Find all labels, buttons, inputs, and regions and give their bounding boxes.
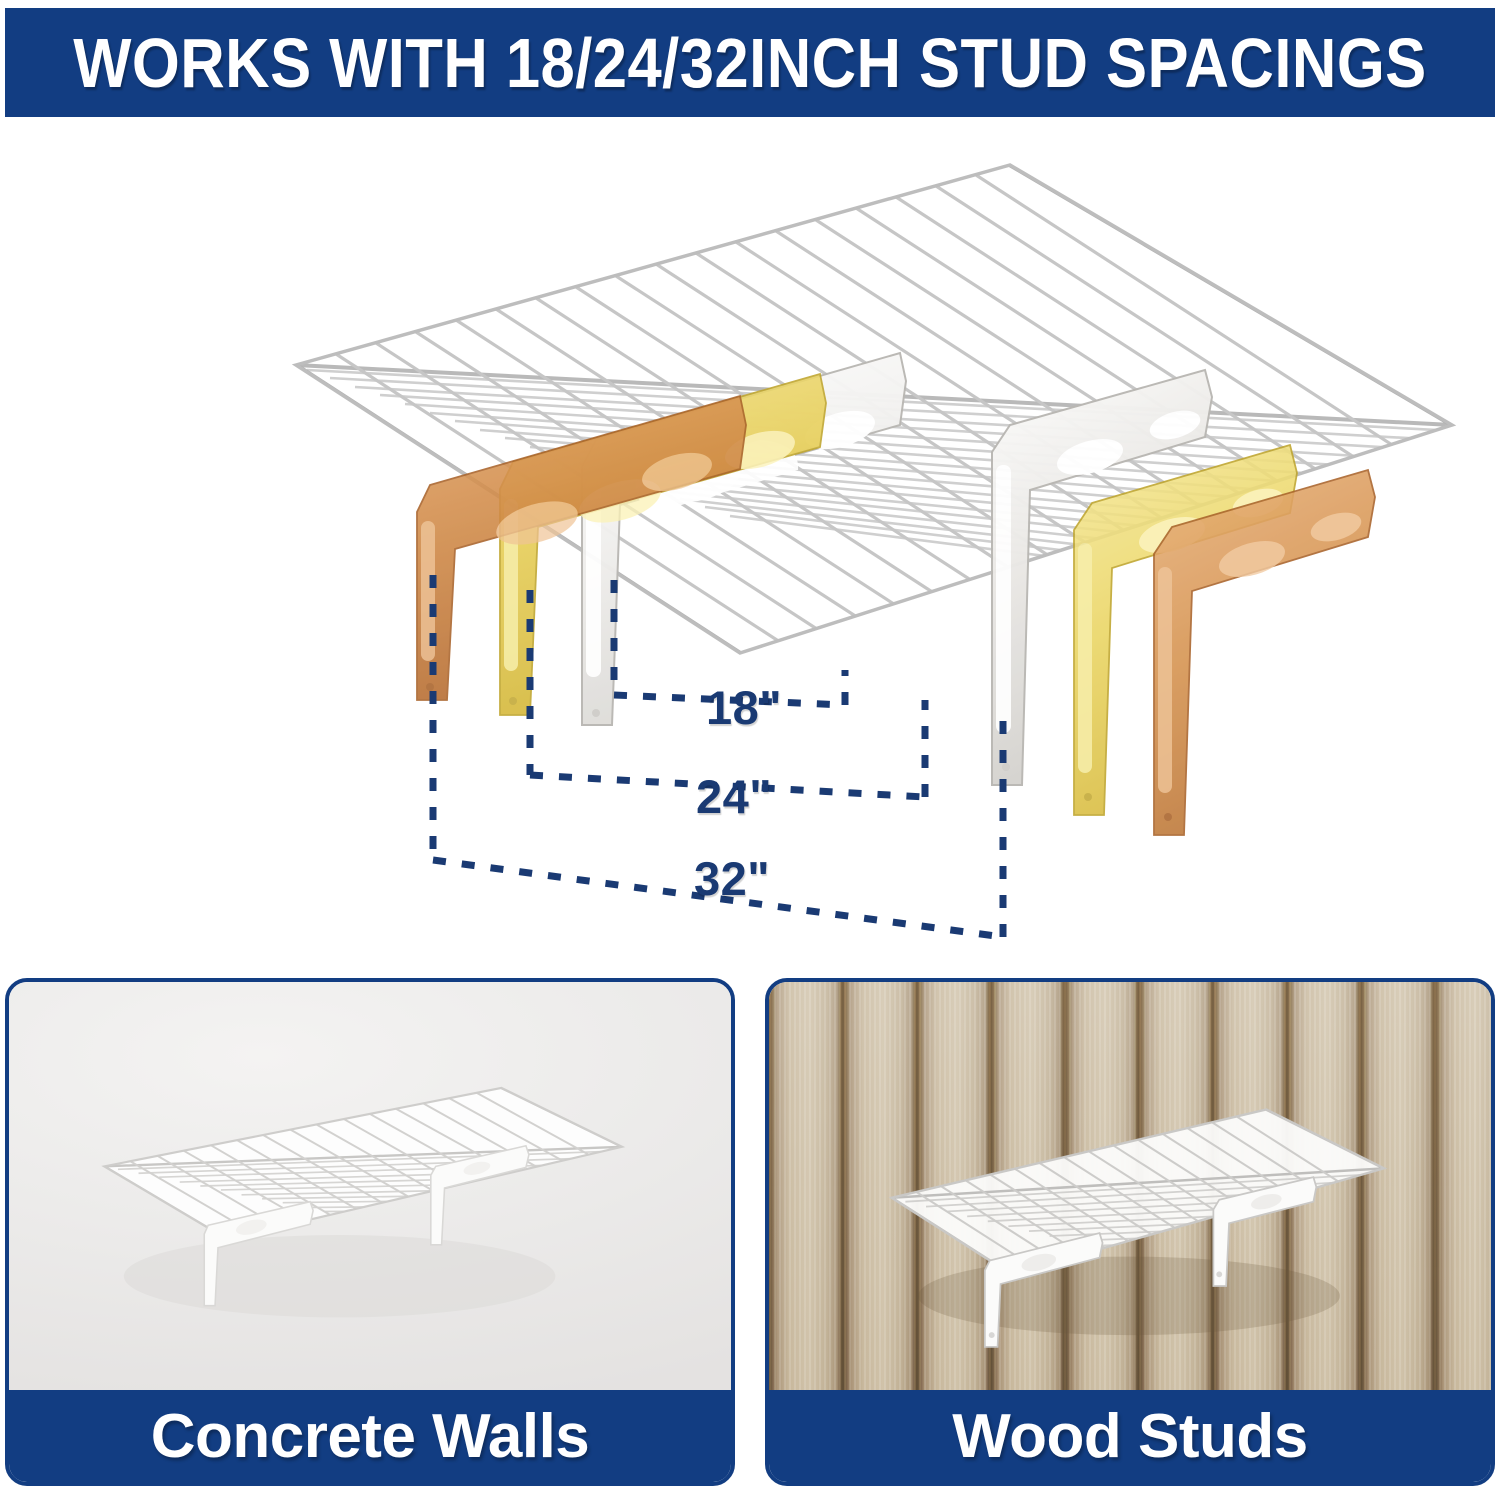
caption-concrete-walls-label: Concrete Walls xyxy=(151,1401,590,1472)
stud-spacing-diagram: 18" 24" 32" xyxy=(0,125,1500,970)
caption-concrete-walls: Concrete Walls xyxy=(9,1390,731,1482)
banner-title: WORKS WITH 18/24/32INCH STUD SPACINGS xyxy=(73,23,1426,103)
wood-shelf-image xyxy=(769,982,1491,1390)
wood-stud-scene xyxy=(769,982,1491,1390)
concrete-shelf-image xyxy=(9,982,731,1390)
panel-wood-studs: Wood Studs xyxy=(765,978,1495,1486)
bracket-orange-right xyxy=(1154,470,1375,835)
application-panels: Concrete Walls xyxy=(0,978,1500,1488)
dimension-label-18: 18" xyxy=(706,680,782,735)
shelf-on-concrete-svg xyxy=(9,982,731,1390)
header-banner: WORKS WITH 18/24/32INCH STUD SPACINGS xyxy=(5,8,1495,117)
caption-wood-studs: Wood Studs xyxy=(769,1390,1491,1482)
product-infographic: WORKS WITH 18/24/32INCH STUD SPACINGS xyxy=(0,0,1500,1488)
dimension-label-32: 32" xyxy=(694,851,770,906)
dimension-label-24: 24" xyxy=(696,769,772,824)
shelf-illustration-svg xyxy=(0,125,1500,970)
panel-concrete-walls: Concrete Walls xyxy=(5,978,735,1486)
caption-wood-studs-label: Wood Studs xyxy=(952,1401,1307,1472)
shelf-on-wood-svg xyxy=(769,982,1491,1390)
concrete-wall-scene xyxy=(9,982,731,1390)
